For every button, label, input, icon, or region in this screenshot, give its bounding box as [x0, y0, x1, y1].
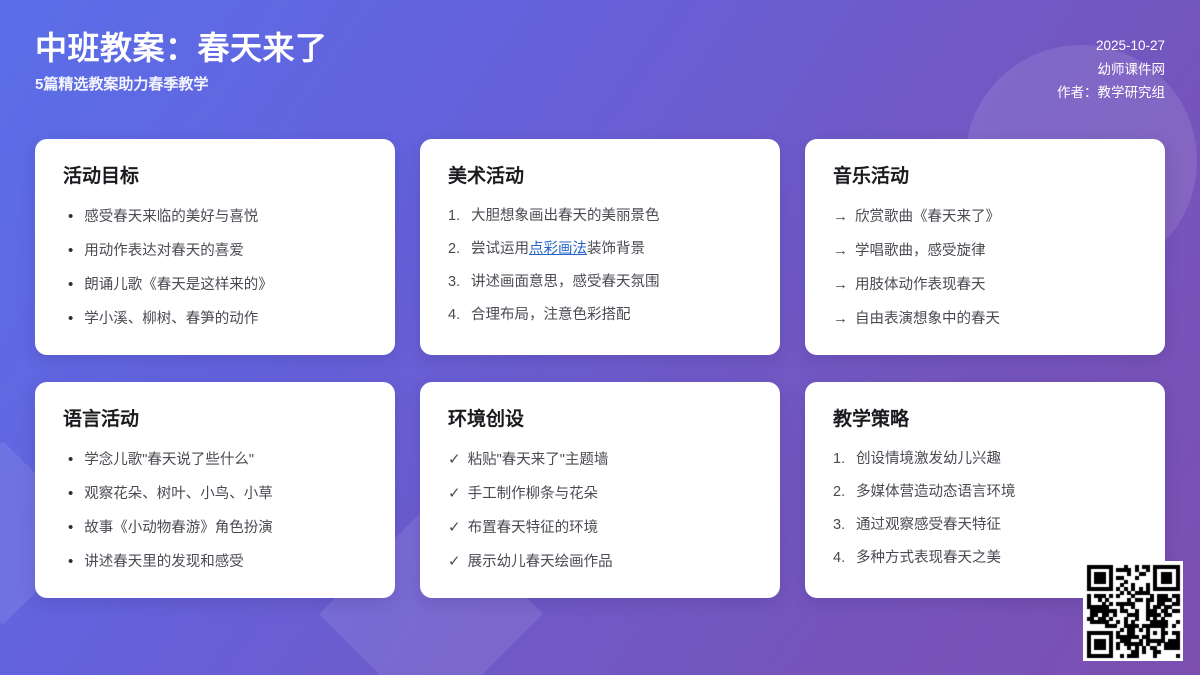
list-item: ✓手工制作柳条与花朵 [448, 483, 752, 505]
list-item: 3.讲述画面意思，感受春天氛围 [448, 272, 752, 293]
list-item-text: 学小溪、柳树、春笋的动作 [84, 309, 258, 330]
card-list: →欣赏歌曲《春天来了》→学唱歌曲，感受旋律→用肢体动作表现春天→自由表演想象中的… [833, 206, 1137, 330]
header-meta-block: 2025-10-27 幼师课件网 作者：教学研究组 [1057, 34, 1165, 105]
list-item: →学唱歌曲，感受旋律 [833, 240, 1137, 262]
list-item-text: 多种方式表现春天之美 [856, 548, 1001, 569]
card-title: 活动目标 [63, 165, 367, 190]
content-card: 语言活动•学念儿歌"春天说了些什么"•观察花朵、树叶、小鸟、小草•故事《小动物春… [35, 382, 395, 598]
list-marker-icon: 4. [833, 548, 849, 569]
list-marker-icon: • [68, 308, 73, 330]
list-item-text: 创设情境激发幼儿兴趣 [856, 449, 1001, 470]
list-marker-icon: → [833, 274, 848, 296]
list-marker-icon: 2. [833, 482, 849, 503]
card-list: •学念儿歌"春天说了些什么"•观察花朵、树叶、小鸟、小草•故事《小动物春游》角色… [63, 449, 367, 573]
list-item-text: 大胆想象画出春天的美丽景色 [471, 206, 660, 227]
list-item: →用肢体动作表现春天 [833, 274, 1137, 296]
list-item-text: 讲述画面意思，感受春天氛围 [471, 272, 660, 293]
list-item-text: 用肢体动作表现春天 [855, 275, 986, 296]
list-marker-icon: → [833, 206, 848, 228]
list-item-text: 通过观察感受春天特征 [856, 515, 1001, 536]
page-title: 中班教案：春天来了 [35, 28, 328, 68]
list-item: •感受春天来临的美好与喜悦 [63, 206, 367, 228]
list-marker-icon: 4. [448, 305, 464, 326]
card-title: 环境创设 [448, 408, 752, 433]
list-marker-icon: • [68, 240, 73, 262]
card-list: ✓粘贴"春天来了"主题墙✓手工制作柳条与花朵✓布置春天特征的环境✓展示幼儿春天绘… [448, 449, 752, 573]
list-marker-icon: 3. [448, 272, 464, 293]
card-list: •感受春天来临的美好与喜悦•用动作表达对春天的喜爱•朗诵儿歌《春天是这样来的》•… [63, 206, 367, 330]
list-marker-icon: • [68, 483, 73, 505]
list-item-text: 尝试运用点彩画法装饰背景 [471, 239, 645, 260]
list-item: 2.多媒体营造动态语言环境 [833, 482, 1137, 503]
list-item-text: 自由表演想象中的春天 [855, 309, 1000, 330]
meta-site-name: 幼师课件网 [1057, 58, 1165, 82]
inline-link[interactable]: 点彩画法 [529, 241, 587, 257]
list-item-text: 多媒体营造动态语言环境 [856, 482, 1016, 503]
slide-header: 中班教案：春天来了 5篇精选教案助力春季教学 2025-10-27 幼师课件网 … [0, 0, 1200, 132]
list-marker-icon: 3. [833, 515, 849, 536]
list-item: ✓展示幼儿春天绘画作品 [448, 551, 752, 573]
list-item-text: 合理布局，注意色彩搭配 [471, 305, 631, 326]
list-marker-icon: • [68, 274, 73, 296]
list-item: 4.合理布局，注意色彩搭配 [448, 305, 752, 326]
list-marker-icon: → [833, 308, 848, 330]
list-marker-icon: 2. [448, 239, 464, 260]
list-item-text: 观察花朵、树叶、小鸟、小草 [84, 484, 273, 505]
list-item: ✓粘贴"春天来了"主题墙 [448, 449, 752, 471]
list-marker-icon: → [833, 240, 848, 262]
meta-author: 作者：教学研究组 [1057, 81, 1165, 105]
card-list: 1.大胆想象画出春天的美丽景色2.尝试运用点彩画法装饰背景3.讲述画面意思，感受… [448, 206, 752, 326]
content-card: 音乐活动→欣赏歌曲《春天来了》→学唱歌曲，感受旋律→用肢体动作表现春天→自由表演… [805, 139, 1165, 355]
list-item-text: 感受春天来临的美好与喜悦 [84, 207, 258, 228]
list-item: •学念儿歌"春天说了些什么" [63, 449, 367, 471]
card-title: 语言活动 [63, 408, 367, 433]
list-item: •学小溪、柳树、春笋的动作 [63, 308, 367, 330]
list-item: 1.大胆想象画出春天的美丽景色 [448, 206, 752, 227]
list-item: •用动作表达对春天的喜爱 [63, 240, 367, 262]
card-title: 音乐活动 [833, 165, 1137, 190]
list-item: •观察花朵、树叶、小鸟、小草 [63, 483, 367, 505]
page-subtitle: 5篇精选教案助力春季教学 [35, 74, 328, 95]
slide-root: 中班教案：春天来了 5篇精选教案助力春季教学 2025-10-27 幼师课件网 … [0, 0, 1200, 675]
list-item-text: 学唱歌曲，感受旋律 [855, 241, 986, 262]
list-marker-icon: • [68, 206, 73, 228]
card-list: 1.创设情境激发幼儿兴趣2.多媒体营造动态语言环境3.通过观察感受春天特征4.多… [833, 449, 1137, 569]
list-item-text: 展示幼儿春天绘画作品 [468, 552, 613, 573]
list-marker-icon: • [68, 517, 73, 539]
list-item-text: 讲述春天里的发现和感受 [84, 552, 244, 573]
list-item: •讲述春天里的发现和感受 [63, 551, 367, 573]
list-item: •朗诵儿歌《春天是这样来的》 [63, 274, 367, 296]
meta-date: 2025-10-27 [1057, 34, 1165, 58]
qr-code-image [1083, 561, 1183, 661]
list-item-text-after: 装饰背景 [587, 241, 645, 257]
list-item: →欣赏歌曲《春天来了》 [833, 206, 1137, 228]
list-item-text: 粘贴"春天来了"主题墙 [468, 450, 609, 471]
cards-grid: 活动目标•感受春天来临的美好与喜悦•用动作表达对春天的喜爱•朗诵儿歌《春天是这样… [35, 139, 1165, 624]
list-item: 3.通过观察感受春天特征 [833, 515, 1137, 536]
list-item-text-before: 尝试运用 [471, 241, 529, 257]
list-item-text: 学念儿歌"春天说了些什么" [84, 450, 254, 471]
list-marker-icon: ✓ [448, 449, 461, 471]
card-title: 教学策略 [833, 408, 1137, 433]
list-item-text: 手工制作柳条与花朵 [468, 484, 599, 505]
list-item: →自由表演想象中的春天 [833, 308, 1137, 330]
list-item-text: 用动作表达对春天的喜爱 [84, 241, 244, 262]
list-item-text: 朗诵儿歌《春天是这样来的》 [84, 275, 273, 296]
header-title-block: 中班教案：春天来了 5篇精选教案助力春季教学 [35, 28, 328, 95]
list-item-text: 布置春天特征的环境 [468, 518, 599, 539]
card-title: 美术活动 [448, 165, 752, 190]
list-marker-icon: ✓ [448, 517, 461, 539]
list-marker-icon: 1. [448, 206, 464, 227]
list-item-text: 欣赏歌曲《春天来了》 [855, 207, 1000, 228]
list-item: 2.尝试运用点彩画法装饰背景 [448, 239, 752, 260]
list-item-text: 故事《小动物春游》角色扮演 [84, 518, 273, 539]
content-card: 环境创设✓粘贴"春天来了"主题墙✓手工制作柳条与花朵✓布置春天特征的环境✓展示幼… [420, 382, 780, 598]
list-marker-icon: ✓ [448, 551, 461, 573]
list-marker-icon: 1. [833, 449, 849, 470]
content-card: 活动目标•感受春天来临的美好与喜悦•用动作表达对春天的喜爱•朗诵儿歌《春天是这样… [35, 139, 395, 355]
list-marker-icon: • [68, 449, 73, 471]
content-card: 美术活动1.大胆想象画出春天的美丽景色2.尝试运用点彩画法装饰背景3.讲述画面意… [420, 139, 780, 355]
list-marker-icon: ✓ [448, 483, 461, 505]
qr-code[interactable] [1083, 561, 1183, 661]
list-item: •故事《小动物春游》角色扮演 [63, 517, 367, 539]
list-marker-icon: • [68, 551, 73, 573]
list-item: ✓布置春天特征的环境 [448, 517, 752, 539]
list-item: 1.创设情境激发幼儿兴趣 [833, 449, 1137, 470]
